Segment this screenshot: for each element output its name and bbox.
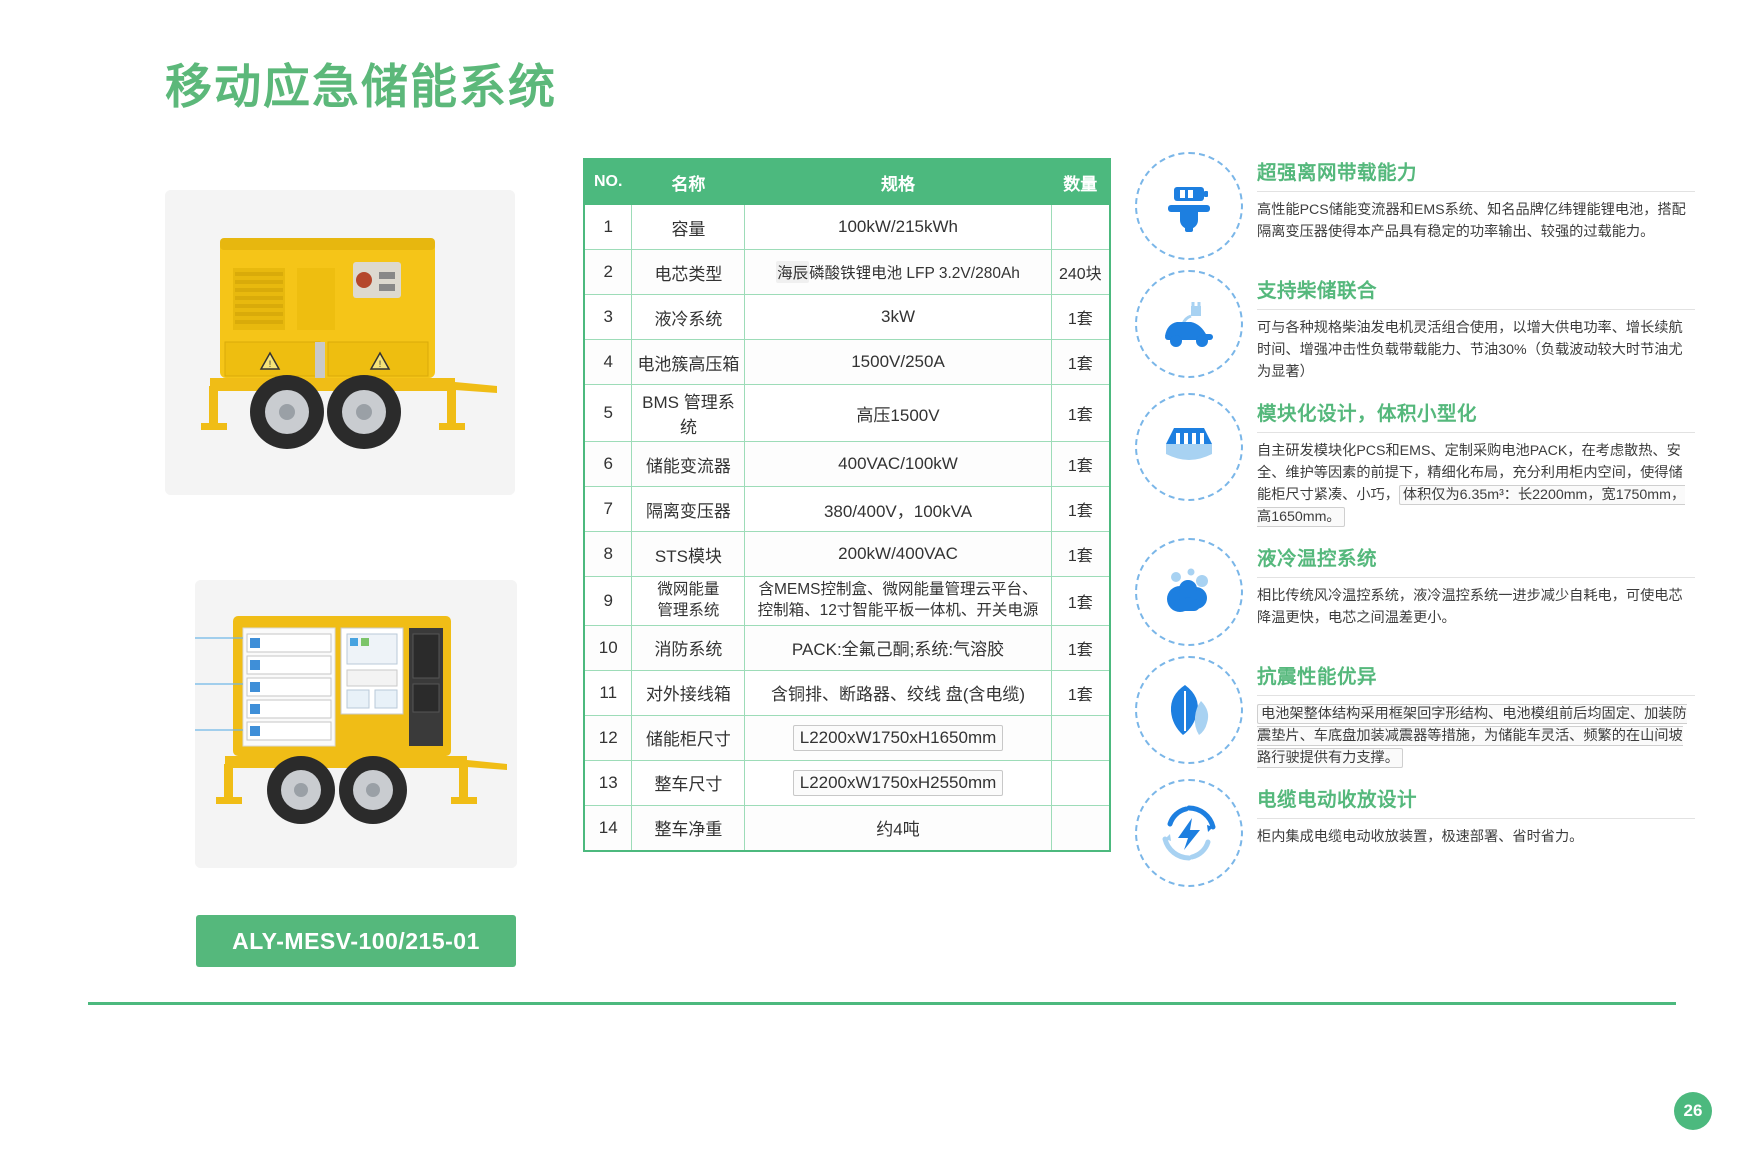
cell-name: 消防系统 [632, 625, 745, 670]
table-row: 7隔离变压器380/400V，100kVA1套 [584, 487, 1110, 532]
cell-no: 8 [584, 532, 632, 577]
table-row: 10消防系统PACK:全氟己酮;系统:气溶胶1套 [584, 625, 1110, 670]
cell-spec: 含铜排、断路器、绞线 盘(含电缆) [745, 670, 1051, 715]
cell-qty: 1套 [1051, 385, 1110, 442]
cell-name: 储能变流器 [632, 442, 745, 487]
cell-qty: 1套 [1051, 442, 1110, 487]
feature-text-highlight: 电池架整体结构采用框架回字形结构、电池模组前后均固定、加装防震垫片、车底盘加装减… [1257, 704, 1687, 768]
cell-qty [1051, 205, 1110, 250]
battery-offgrid-icon [1135, 152, 1243, 260]
cell-no: 2 [584, 250, 632, 295]
feature-text: 高性能PCS储能变流器和EMS系统、知名品牌亿纬锂能锂电池，搭配隔离变压器使得本… [1257, 199, 1695, 243]
table-row: 12储能柜尺寸L2200xW1750xH1650mm [584, 715, 1110, 760]
trailer-closed-illustration: ! ! [165, 190, 515, 495]
cell-qty [1051, 760, 1110, 805]
feature-list: 超强离网带载能力 高性能PCS储能变流器和EMS系统、知名品牌亿纬锂能锂电池，搭… [1135, 150, 1695, 895]
cell-name: 整车尺寸 [632, 760, 745, 805]
divider [1257, 818, 1695, 819]
divider [1257, 432, 1695, 433]
cell-qty: 1套 [1051, 625, 1110, 670]
cell-spec: L2200xW1750xH1650mm [745, 715, 1051, 760]
cell-no: 14 [584, 805, 632, 851]
svg-text:!: ! [269, 359, 272, 369]
feature-text: 自主研发模块化PCS和EMS、定制采购电池PACK，在考虑散热、安全、维护等因素… [1257, 440, 1695, 528]
cell-qty: 1套 [1051, 340, 1110, 385]
cell-name: 整车净重 [632, 805, 745, 851]
cell-spec: 高压1500V [745, 385, 1051, 442]
table-row: 3液冷系统3kW1套 [584, 295, 1110, 340]
feature-text: 可与各种规格柴油发电机灵活组合使用，以增大供电功率、增长续航时间、增强冲击性负载… [1257, 317, 1695, 383]
feature-text: 相比传统风冷温控系统，液冷温控系统一进步减少自耗电，可使电芯降温更快，电芯之间温… [1257, 585, 1695, 629]
boxed-value: L2200xW1750xH1650mm [793, 725, 1004, 751]
page-title: 移动应急储能系统 [165, 48, 557, 117]
cable-reel-lightning-icon [1135, 779, 1243, 887]
feature-item-shock-resistance: 抗震性能优异 电池架整体结构采用框架回字形结构、电池模组前后均固定、加装防震垫片… [1135, 654, 1695, 769]
feature-item-offgrid: 超强离网带载能力 高性能PCS储能变流器和EMS系统、知名品牌亿纬锂能锂电池，搭… [1135, 150, 1695, 260]
table-row: 4电池簇高压箱1500V/250A1套 [584, 340, 1110, 385]
cell-name: BMS 管理系统 [632, 385, 745, 442]
feature-body: 模块化设计，体积小型化 自主研发模块化PCS和EMS、定制采购电池PACK，在考… [1257, 391, 1695, 528]
boxed-value: L2200xW1750xH2550mm [793, 770, 1004, 796]
cell-qty: 240块 [1051, 250, 1110, 295]
cell-spec: 约4吨 [745, 805, 1051, 851]
cell-spec: 400VAC/100kW [745, 442, 1051, 487]
feature-body: 抗震性能优异 电池架整体结构采用框架回字形结构、电池模组前后均固定、加装防震垫片… [1257, 654, 1695, 769]
cell-no: 5 [584, 385, 632, 442]
cell-name: 微网能量管理系统 [632, 577, 745, 626]
spec-table-header-row: NO. 名称 规格 数量 [584, 159, 1110, 205]
cell-qty [1051, 805, 1110, 851]
cell-no: 9 [584, 577, 632, 626]
cell-no: 11 [584, 670, 632, 715]
divider [1257, 309, 1695, 310]
cell-no: 10 [584, 625, 632, 670]
cell-spec: 380/400V，100kVA [745, 487, 1051, 532]
cell-spec: PACK:全氟己酮;系统:气溶胶 [745, 625, 1051, 670]
cell-no: 1 [584, 205, 632, 250]
cell-name: 对外接线箱 [632, 670, 745, 715]
feature-item-diesel-hybrid: 支持柴储联合 可与各种规格柴油发电机灵活组合使用，以增大供电功率、增长续航时间、… [1135, 268, 1695, 383]
header-spec: 规格 [745, 159, 1051, 205]
spec-table: NO. 名称 规格 数量 1容量100kW/215kWh2电芯类型海辰磷酸铁锂电… [583, 158, 1111, 852]
header-qty: 数量 [1051, 159, 1110, 205]
divider [1257, 577, 1695, 578]
table-row: 8STS模块200kW/400VAC1套 [584, 532, 1110, 577]
feature-item-cable-reel: 电缆电动收放设计 柜内集成电缆电动收放装置，极速部署、省时省力。 [1135, 777, 1695, 887]
header-name: 名称 [632, 159, 745, 205]
footer-divider [88, 1002, 1676, 1005]
table-row: 14整车净重约4吨 [584, 805, 1110, 851]
feature-title: 抗震性能优异 [1257, 660, 1695, 689]
feature-title: 超强离网带载能力 [1257, 156, 1695, 185]
cell-name: 液冷系统 [632, 295, 745, 340]
table-row: 5BMS 管理系统高压1500V1套 [584, 385, 1110, 442]
cell-no: 6 [584, 442, 632, 487]
cell-qty: 1套 [1051, 487, 1110, 532]
cell-no: 3 [584, 295, 632, 340]
cell-qty: 1套 [1051, 532, 1110, 577]
header-no: NO. [584, 159, 632, 205]
feature-text: 电池架整体结构采用框架回字形结构、电池模组前后均固定、加装防震垫片、车底盘加装减… [1257, 703, 1695, 769]
feature-text: 柜内集成电缆电动收放装置，极速部署、省时省力。 [1257, 826, 1695, 848]
cell-name: 电芯类型 [632, 250, 745, 295]
feature-title: 电缆电动收放设计 [1257, 783, 1695, 812]
table-row: 13整车尺寸L2200xW1750xH2550mm [584, 760, 1110, 805]
feature-title: 液冷温控系统 [1257, 542, 1695, 571]
feature-body: 电缆电动收放设计 柜内集成电缆电动收放装置，极速部署、省时省力。 [1257, 777, 1695, 848]
feature-title: 支持柴储联合 [1257, 274, 1695, 303]
feature-item-liquid-cooling: 液冷温控系统 相比传统风冷温控系统，液冷温控系统一进步减少自耗电，可使电芯降温更… [1135, 536, 1695, 646]
cell-spec: L2200xW1750xH2550mm [745, 760, 1051, 805]
spec-table-body: 1容量100kW/215kWh2电芯类型海辰磷酸铁锂电池 LFP 3.2V/28… [584, 205, 1110, 851]
table-row: 6储能变流器400VAC/100kW1套 [584, 442, 1110, 487]
cell-name: 隔离变压器 [632, 487, 745, 532]
page-number-badge: 26 [1674, 1092, 1712, 1130]
divider [1257, 191, 1695, 192]
cell-name: 容量 [632, 205, 745, 250]
liquid-cooling-icon [1135, 538, 1243, 646]
product-photo-interior [195, 580, 517, 868]
slide-root: 移动应急储能系统 [0, 0, 1764, 1172]
divider [1257, 695, 1695, 696]
cell-spec: 1500V/250A [745, 340, 1051, 385]
feature-body: 液冷温控系统 相比传统风冷温控系统，液冷温控系统一进步减少自耗电，可使电芯降温更… [1257, 536, 1695, 629]
cell-spec: 3kW [745, 295, 1051, 340]
modular-cabinet-icon [1135, 393, 1243, 501]
cell-name: 电池簇高压箱 [632, 340, 745, 385]
product-photo-exterior: ! ! [165, 190, 515, 495]
ev-charging-car-icon [1135, 270, 1243, 378]
cell-qty: 1套 [1051, 295, 1110, 340]
svg-text:!: ! [379, 359, 382, 369]
cell-no: 13 [584, 760, 632, 805]
cell-spec: 200kW/400VAC [745, 532, 1051, 577]
cell-no: 12 [584, 715, 632, 760]
highlighted-term: 海辰 [776, 261, 809, 283]
cell-spec: 100kW/215kWh [745, 205, 1051, 250]
table-row: 11对外接线箱含铜排、断路器、绞线 盘(含电缆)1套 [584, 670, 1110, 715]
shock-resistance-leaf-icon [1135, 656, 1243, 764]
table-row: 2电芯类型海辰磷酸铁锂电池 LFP 3.2V/280Ah240块 [584, 250, 1110, 295]
table-row: 1容量100kW/215kWh [584, 205, 1110, 250]
cell-spec: 海辰磷酸铁锂电池 LFP 3.2V/280Ah [745, 250, 1051, 295]
cell-qty: 1套 [1051, 670, 1110, 715]
cell-name: STS模块 [632, 532, 745, 577]
cell-name: 储能柜尺寸 [632, 715, 745, 760]
product-model-badge: ALY-MESV-100/215-01 [196, 915, 516, 967]
trailer-open-illustration [195, 580, 517, 868]
feature-title: 模块化设计，体积小型化 [1257, 397, 1695, 426]
feature-item-modular: 模块化设计，体积小型化 自主研发模块化PCS和EMS、定制采购电池PACK，在考… [1135, 391, 1695, 528]
feature-body: 超强离网带载能力 高性能PCS储能变流器和EMS系统、知名品牌亿纬锂能锂电池，搭… [1257, 150, 1695, 243]
cell-qty [1051, 715, 1110, 760]
cell-no: 4 [584, 340, 632, 385]
cell-qty: 1套 [1051, 577, 1110, 626]
cell-spec: 含MEMS控制盒、微网能量管理云平台、控制箱、12寸智能平板一体机、开关电源 [745, 577, 1051, 626]
cell-no: 7 [584, 487, 632, 532]
feature-body: 支持柴储联合 可与各种规格柴油发电机灵活组合使用，以增大供电功率、增长续航时间、… [1257, 268, 1695, 383]
table-row: 9微网能量管理系统含MEMS控制盒、微网能量管理云平台、控制箱、12寸智能平板一… [584, 577, 1110, 626]
